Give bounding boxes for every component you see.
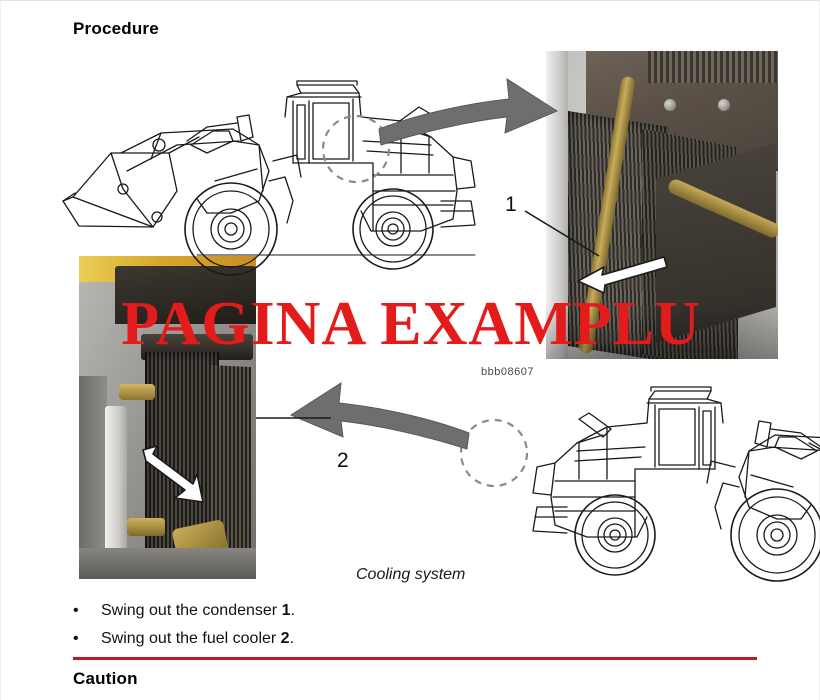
figure-caption: Cooling system	[356, 566, 465, 584]
figure-area: 1 2 bbb08607	[1, 41, 820, 571]
callout-leader-1	[525, 211, 599, 256]
figure-code: bbb08607	[481, 366, 534, 378]
loader-drawing-top	[63, 81, 475, 275]
step-text: Swing out the condenser 1.	[101, 597, 295, 625]
step-text: Swing out the fuel cooler 2.	[101, 625, 294, 653]
step-text-tail: .	[290, 602, 294, 619]
bullet-icon: •	[73, 597, 101, 625]
step-text-main: Swing out the condenser	[101, 602, 282, 619]
line-art	[1, 41, 820, 571]
callout-number-2: 2	[337, 449, 349, 473]
swing-direction-arrow-icon	[291, 383, 469, 449]
procedure-steps-list: • Swing out the condenser 1. • Swing out…	[73, 597, 673, 653]
highlight-circle	[461, 420, 527, 486]
caution-heading: Caution	[73, 669, 138, 689]
callout-number-1: 1	[505, 193, 517, 217]
page-title: Procedure	[73, 19, 159, 39]
list-item: • Swing out the fuel cooler 2.	[73, 625, 673, 653]
step-text-tail: .	[290, 630, 294, 647]
loader-drawing-bottom	[533, 387, 820, 581]
bullet-icon: •	[73, 625, 101, 653]
step-text-main: Swing out the fuel cooler	[101, 630, 281, 647]
step-ref: 2	[281, 630, 290, 647]
list-item: • Swing out the condenser 1.	[73, 597, 673, 625]
highlight-circle	[323, 116, 389, 182]
section-divider	[73, 657, 757, 660]
swing-direction-arrow-icon	[379, 79, 557, 145]
document-page: Procedure	[0, 0, 820, 700]
